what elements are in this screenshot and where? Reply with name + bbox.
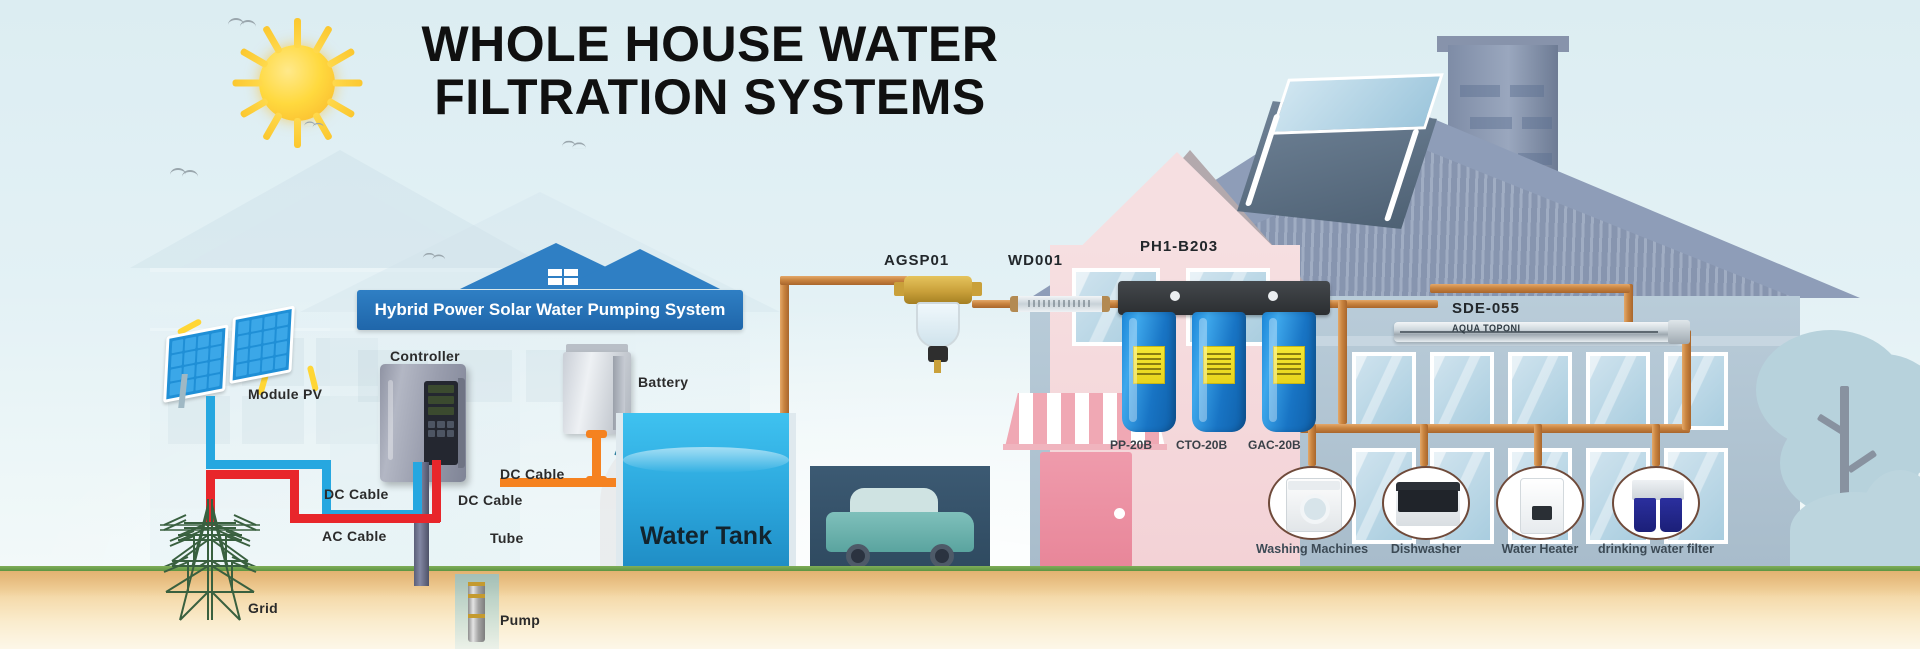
- appliance-drop-3: [1534, 424, 1542, 466]
- house-window: [1586, 352, 1650, 430]
- appliance-drop-1: [1308, 424, 1316, 466]
- label-controller: Controller: [390, 348, 460, 364]
- dc-cable-orange-cap-top: [586, 430, 607, 438]
- spin-down-prefilter: [900, 276, 976, 372]
- uv-brand-text: AQUA TOPONI: [1452, 323, 1521, 334]
- pipe-top-run: [1430, 284, 1630, 293]
- filter-warning-label: [1203, 346, 1235, 384]
- appliance-manifold-pipe: [1300, 424, 1690, 433]
- dc-cable-blue-v1: [206, 396, 215, 468]
- pipe-down-to-manifold: [1338, 300, 1347, 424]
- bird-icon: [170, 168, 198, 177]
- filter-bowl-gac: [1262, 312, 1316, 432]
- sun-core: [259, 45, 335, 121]
- solar-system-banner: Hybrid Power Solar Water Pumping System: [357, 290, 743, 330]
- label-wd001: WD001: [1008, 252, 1063, 269]
- ac-cable-h1: [206, 470, 298, 479]
- appliance-drop-4: [1652, 424, 1660, 466]
- ac-cable-h2: [290, 514, 440, 523]
- appliance-water-heater: Water Heater: [1496, 466, 1584, 540]
- bird-icon: [562, 141, 586, 149]
- label-ph1-b203: PH1-B203: [1140, 238, 1218, 255]
- label-ac-cable: AC Cable: [322, 528, 387, 544]
- label-dc-cable-2: DC Cable: [458, 492, 523, 508]
- bird-icon: [228, 18, 256, 27]
- label-sde-055: SDE-055: [1452, 300, 1520, 317]
- filter-bowl-cto: [1192, 312, 1246, 432]
- washing-machine-icon: [1268, 466, 1356, 540]
- dc-cable-blue-v3: [413, 462, 422, 518]
- dc-cable-blue-h1: [206, 460, 330, 469]
- infographic-canvas: WHOLE HOUSE WATER FILTRATION SYSTEMS: [0, 0, 1920, 649]
- ac-cable-v3: [432, 460, 441, 522]
- appliance-drop-2: [1420, 424, 1428, 466]
- sun-icon: [232, 18, 362, 148]
- cartridge-label-gac: GAC-20B: [1248, 438, 1301, 452]
- supply-pipe-horizontal: [780, 276, 908, 285]
- banner-text: Hybrid Power Solar Water Pumping System: [375, 300, 726, 320]
- pump-riser: [414, 560, 429, 586]
- appliance-label: Water Heater: [1474, 542, 1606, 556]
- ground-shading: [0, 571, 1920, 597]
- pipe-right-riser: [1682, 330, 1691, 430]
- car: [826, 486, 974, 562]
- skylight: [1237, 101, 1437, 229]
- house-window: [1430, 352, 1494, 430]
- banner-house-window: [548, 269, 578, 285]
- label-dc-cable-3: DC Cable: [500, 466, 565, 482]
- appliance-label: Dishwasher: [1360, 542, 1492, 556]
- label-pump-text: Pump: [500, 612, 540, 628]
- house-window: [1664, 352, 1728, 430]
- submersible-pump-lower: [468, 582, 485, 642]
- cartridge-label-cto: CTO-20B: [1176, 438, 1227, 452]
- title-line-2: FILTRATION SYSTEMS: [360, 71, 1060, 124]
- label-grid-text: Grid: [248, 600, 278, 616]
- bird-icon: [304, 121, 324, 127]
- label-dc-cable-1: DC Cable: [324, 486, 389, 502]
- cartridge-label-pp: PP-20B: [1110, 438, 1152, 452]
- label-water-tank: Water Tank: [640, 522, 810, 551]
- house-window: [1352, 352, 1416, 430]
- label-tube: Tube: [490, 530, 524, 546]
- label-battery: Battery: [638, 374, 688, 390]
- appliance-dishwasher: Dishwasher: [1382, 466, 1470, 540]
- appliance-washing-machine: Washing Machines: [1268, 466, 1356, 540]
- title-line-1: WHOLE HOUSE WATER: [421, 16, 998, 72]
- uv-sterilizer: AQUA TOPONI: [1394, 322, 1680, 342]
- banner-house-icon: [390, 243, 720, 295]
- water-descaler: [1010, 296, 1110, 312]
- house-window: [1508, 352, 1572, 430]
- filter-bowl-pp: [1122, 312, 1176, 432]
- water-heater-icon: [1496, 466, 1584, 540]
- dc-cable-orange-cap-bottom: [586, 476, 607, 484]
- dishwasher-icon: [1382, 466, 1470, 540]
- filter-housing-cap: [1118, 281, 1330, 315]
- drinking-water-filter-icon: [1612, 466, 1700, 540]
- page-title: WHOLE HOUSE WATER FILTRATION SYSTEMS: [360, 18, 1060, 124]
- filter-warning-label: [1273, 346, 1305, 384]
- appliance-drinking-water-filter: drinking water filter: [1612, 466, 1700, 540]
- house-door: [1040, 452, 1132, 568]
- label-agsp01: AGSP01: [884, 252, 949, 269]
- appliance-label: Washing Machines: [1246, 542, 1378, 556]
- label-module-pv: Module PV: [248, 386, 322, 402]
- filter-warning-label: [1133, 346, 1165, 384]
- appliance-label: drinking water filter: [1590, 542, 1722, 556]
